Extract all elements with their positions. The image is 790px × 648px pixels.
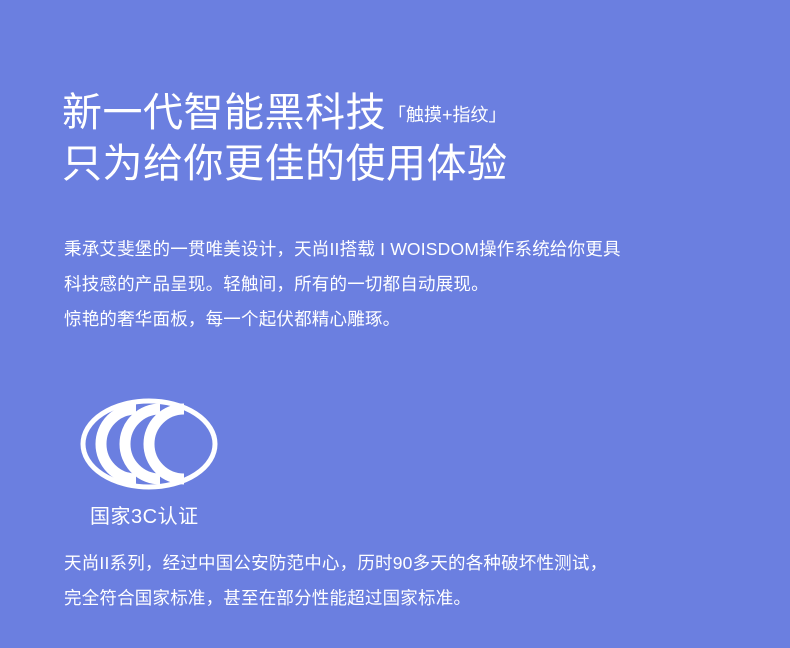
body-line-1: 秉承艾斐堡的一贯唯美设计，天尚II搭载 I WOISDOM操作系统给你更具 <box>64 232 754 267</box>
headline-line-2: 只为给你更佳的使用体验 <box>62 138 752 191</box>
closing-paragraph: 天尚II系列，经过中国公安防范中心，历时90多天的各种破坏性测试， 完全符合国家… <box>64 546 764 616</box>
closing-line-1: 天尚II系列，经过中国公安防范中心，历时90多天的各种破坏性测试， <box>64 546 764 581</box>
body-line-2: 科技感的产品呈现。轻触间，所有的一切都自动展现。 <box>64 267 754 302</box>
headline-feature-bracket: 「触摸+指纹」 <box>388 104 507 126</box>
body-line-3: 惊艳的奢华面板，每一个起伏都精心雕琢。 <box>64 302 754 337</box>
body-paragraph: 秉承艾斐堡的一贯唯美设计，天尚II搭载 I WOISDOM操作系统给你更具 科技… <box>64 232 754 337</box>
certification-caption: 国家3C认证 <box>90 503 199 531</box>
headline-main-text: 新一代智能黑科技 <box>62 88 386 138</box>
ccc-certification-icon <box>78 396 220 492</box>
headline-line-1: 新一代智能黑科技 「触摸+指纹」 <box>62 88 752 138</box>
closing-line-2: 完全符合国家标准，甚至在部分性能超过国家标准。 <box>64 581 764 616</box>
promo-page: 新一代智能黑科技 「触摸+指纹」 只为给你更佳的使用体验 秉承艾斐堡的一贯唯美设… <box>0 0 790 648</box>
headline-block: 新一代智能黑科技 「触摸+指纹」 只为给你更佳的使用体验 <box>62 88 752 191</box>
